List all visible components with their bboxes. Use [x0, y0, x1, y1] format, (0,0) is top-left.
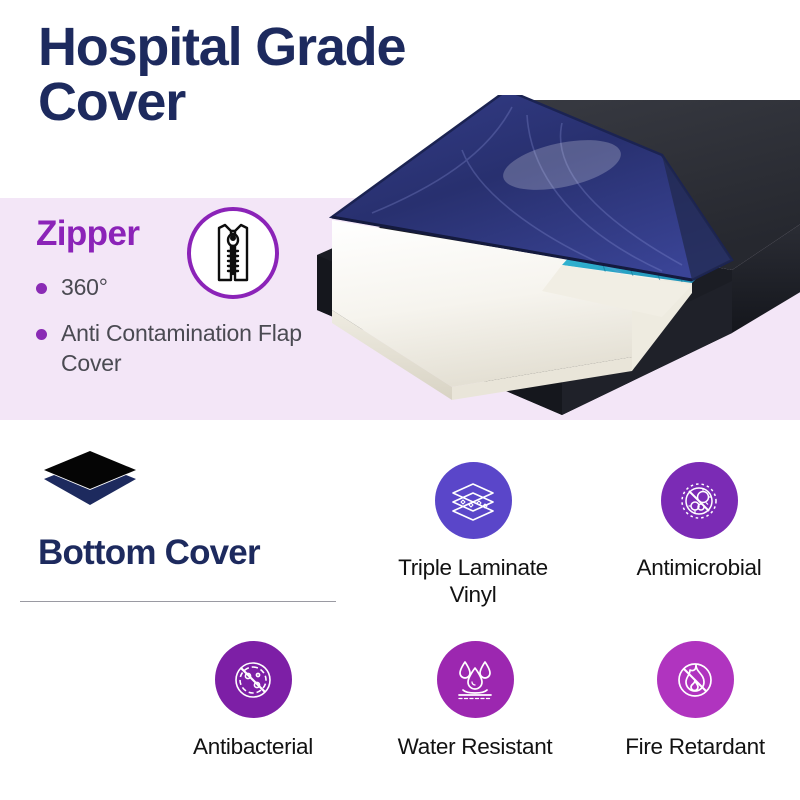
feature-icon-circle — [657, 641, 734, 718]
page-title: Hospital Grade Cover — [38, 20, 508, 130]
no-flame-icon — [671, 656, 719, 704]
zipper-bullet-text: Anti Contamination Flap Cover — [61, 319, 311, 378]
feature-antibacterial: Antibacterial — [158, 641, 348, 760]
mattress-illustration — [262, 95, 800, 430]
feature-label: Antimicrobial — [637, 554, 762, 581]
feature-antimicrobial: Antimicrobial — [604, 462, 794, 581]
product-photo — [262, 95, 800, 430]
feature-icon-circle — [437, 641, 514, 718]
page-title-line-2: Cover — [38, 75, 508, 130]
feature-triple-laminate-vinyl: Triple Laminate Vinyl — [378, 462, 568, 609]
feature-water-resistant: Water Resistant — [380, 641, 570, 760]
list-item: 360° — [36, 273, 336, 302]
zipper-section: Zipper 360° Anti Contamination Flap Cove… — [36, 216, 336, 395]
feature-label: Triple Laminate Vinyl — [378, 554, 568, 609]
layers-stack-glyph — [38, 443, 142, 519]
feature-label: Water Resistant — [398, 733, 553, 760]
bullet-dot-icon — [36, 329, 47, 340]
feature-icon-circle — [661, 462, 738, 539]
feature-fire-retardant: Fire Retardant — [600, 641, 790, 760]
feature-label: Fire Retardant — [625, 733, 765, 760]
bullet-dot-icon — [36, 283, 47, 294]
feature-icon-circle — [435, 462, 512, 539]
bottom-cover-title: Bottom Cover — [38, 535, 260, 570]
water-droplets-icon — [451, 656, 499, 704]
no-microbe-icon — [675, 477, 723, 525]
no-bacteria-icon — [229, 656, 277, 704]
layers-stack-icon — [38, 443, 142, 519]
page-title-line-1: Hospital Grade — [38, 20, 508, 75]
list-item: Anti Contamination Flap Cover — [36, 319, 336, 378]
zipper-heading: Zipper — [36, 216, 336, 251]
feature-label: Antibacterial — [193, 733, 313, 760]
zipper-badge — [187, 207, 279, 299]
laminate-layers-icon — [449, 477, 497, 525]
zipper-icon — [211, 222, 255, 284]
feature-icon-circle — [215, 641, 292, 718]
section-divider — [20, 601, 336, 602]
zipper-bullet-text: 360° — [61, 273, 108, 302]
bottom-cover-section: Bottom Cover — [38, 443, 260, 570]
zipper-bullet-list: 360° Anti Contamination Flap Cover — [36, 273, 336, 378]
